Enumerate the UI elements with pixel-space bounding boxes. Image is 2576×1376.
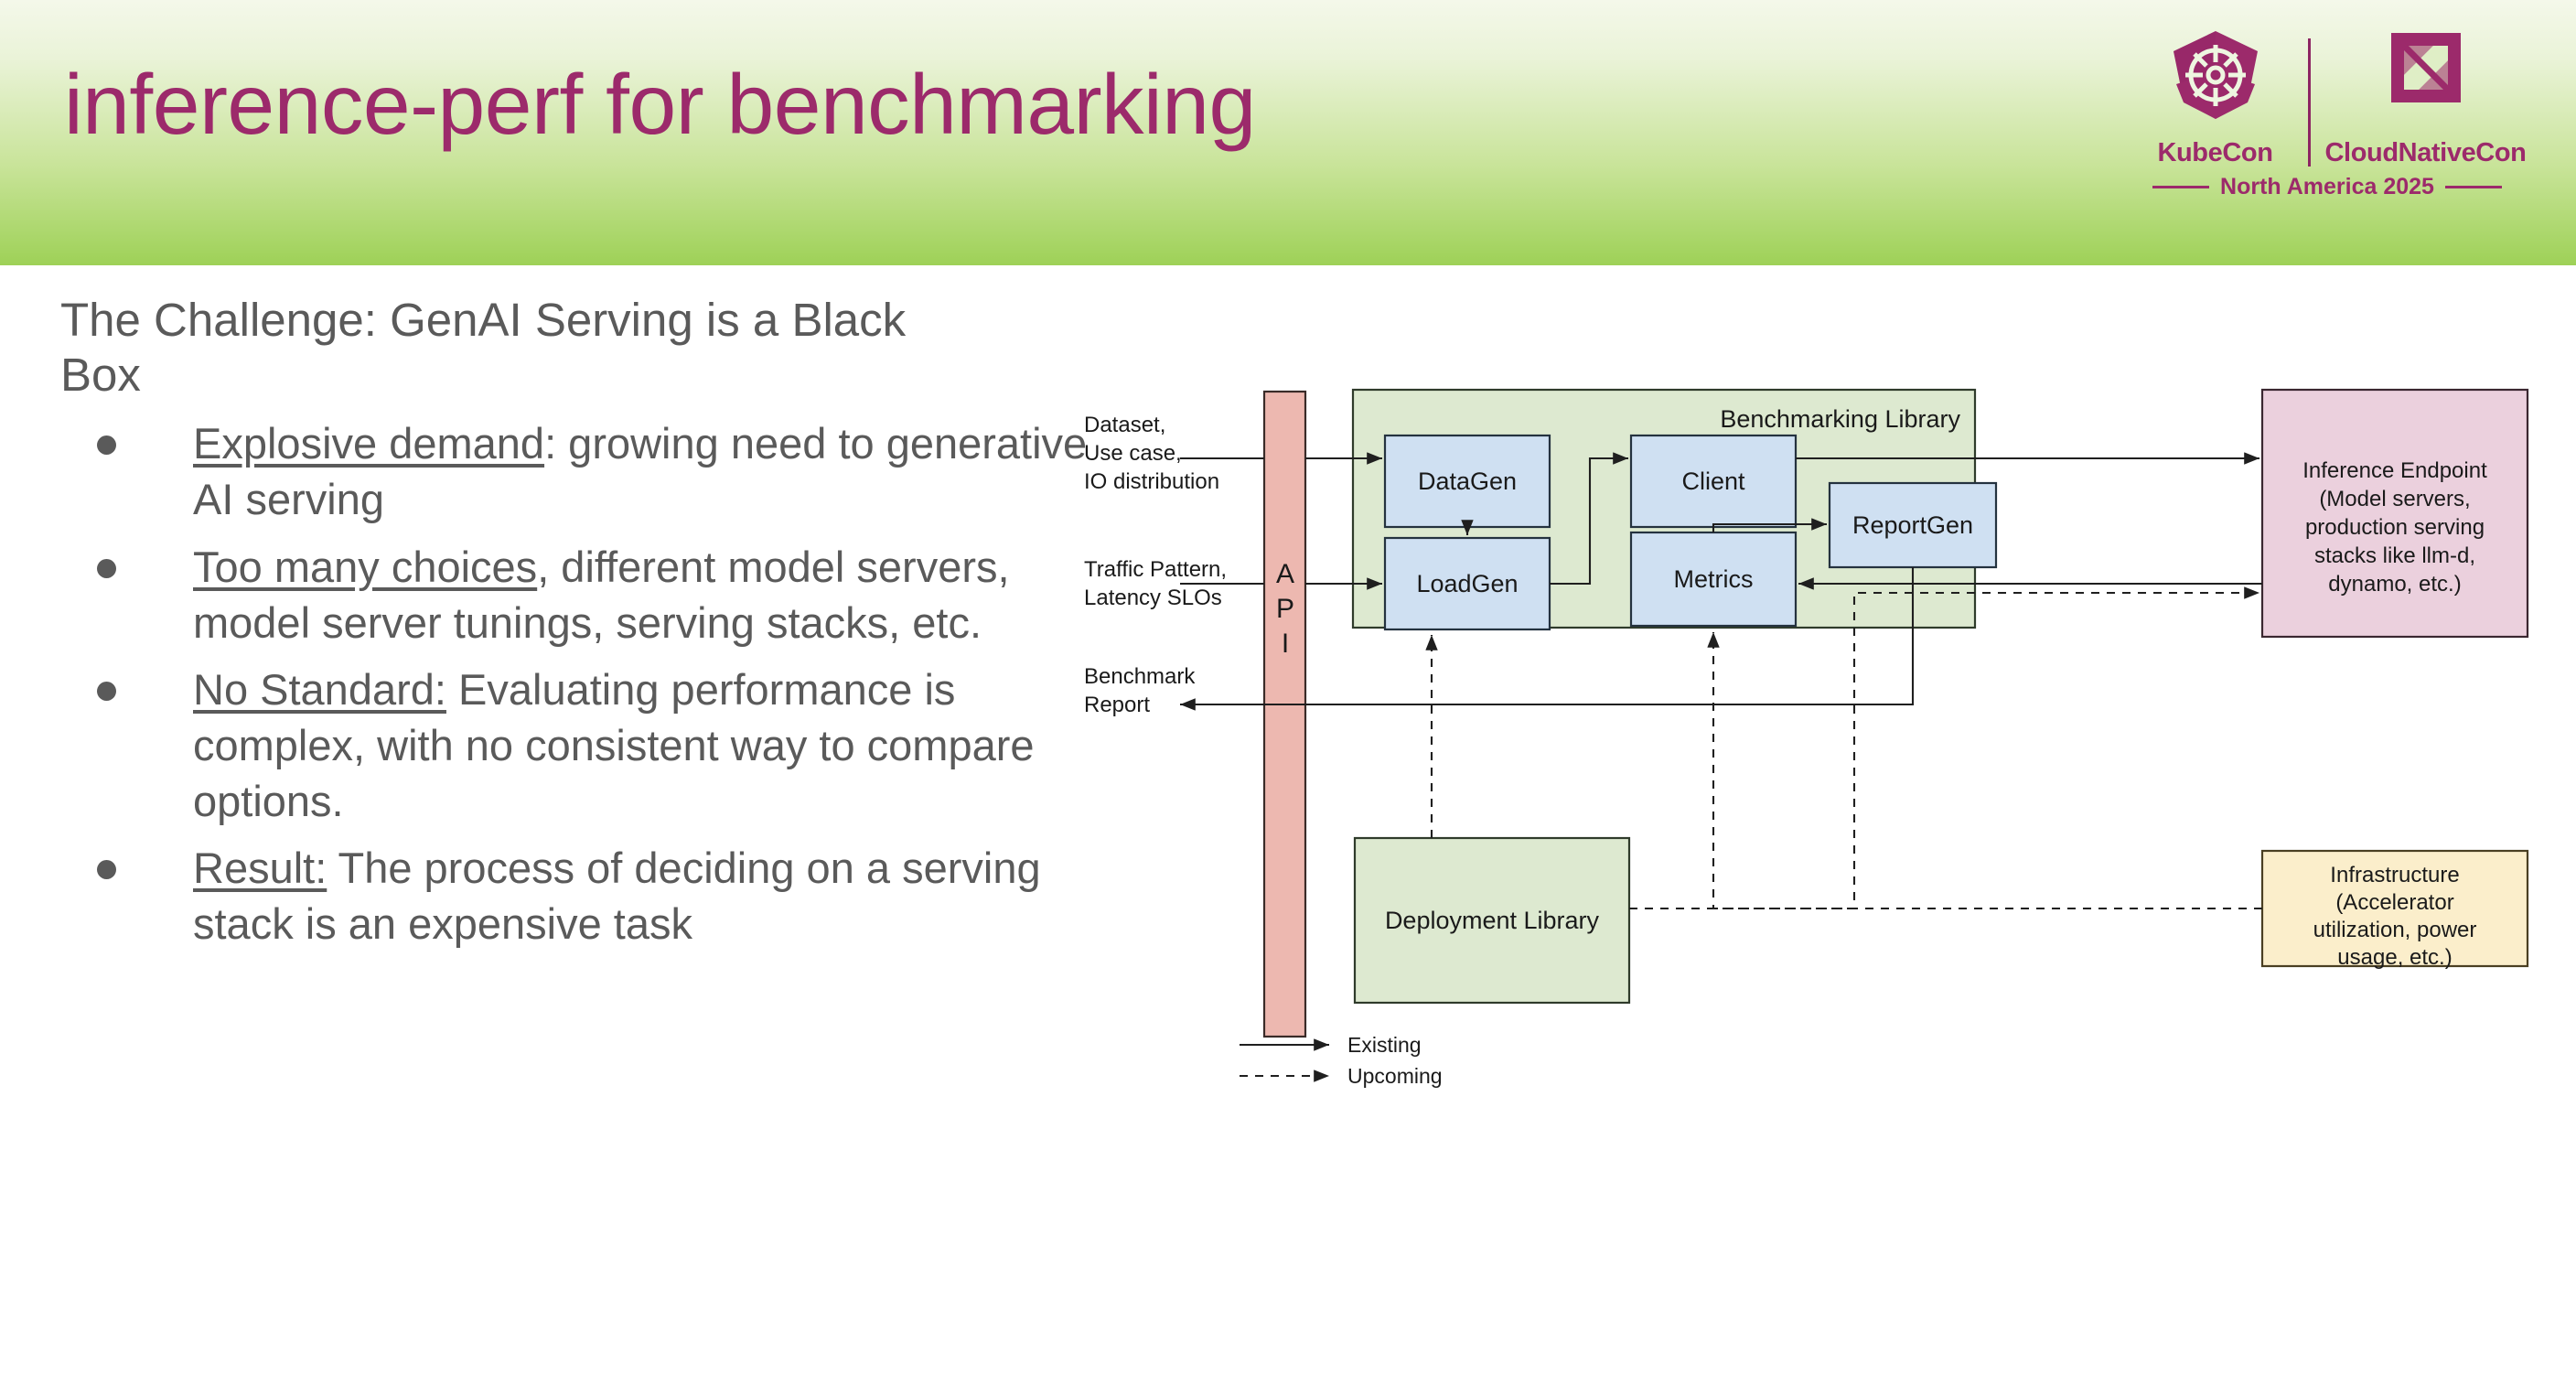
region-rule-left: [2152, 186, 2209, 188]
bullet-lead: Too many choices: [193, 543, 537, 591]
component-label-loadgen: LoadGen: [1416, 570, 1518, 597]
inference-endpoint-box: [2262, 390, 2528, 637]
slide-body-text: The Challenge: GenAI Serving is a Black …: [60, 293, 1094, 962]
input-label-report-2: Report: [1084, 693, 1150, 717]
infrastructure-line-3: utilization, power: [2313, 918, 2477, 942]
challenge-heading: The Challenge: GenAI Serving is a Black …: [60, 293, 993, 403]
component-label-client: Client: [1681, 468, 1745, 495]
cloud-native-computing-foundation-icon: [2377, 118, 2475, 134]
bullet-dot-icon: [97, 682, 116, 701]
infrastructure-line-4: usage, etc.): [2337, 945, 2452, 970]
region-rule-right: [2445, 186, 2502, 188]
legend-label-existing: Existing: [1347, 1033, 1422, 1057]
component-label-metrics: Metrics: [1674, 565, 1754, 593]
api-letter-a: A: [1276, 559, 1294, 589]
infrastructure-line-2: (Accelerator: [2335, 890, 2453, 915]
challenge-bullet-list: Explosive demand: growing need to genera…: [60, 415, 1094, 951]
bullet-lead: Explosive demand: [193, 419, 544, 468]
arrow-deployment-to-endpoint: [1629, 593, 2259, 908]
inference-endpoint-line-3: production serving: [2305, 515, 2485, 540]
kubernetes-helm-wheel-icon: [2165, 118, 2266, 134]
bullet-dot-icon: [97, 435, 116, 455]
bullet-dot-icon: [97, 860, 116, 879]
api-bar: [1264, 392, 1305, 1037]
architecture-diagram: Dataset, Use case, IO distribution Traff…: [1084, 366, 2548, 1116]
diagram-legend: Existing Upcoming: [1240, 1033, 1443, 1088]
inference-endpoint-line-5: dynamo, etc.): [2328, 572, 2461, 597]
kubecon-wordmark: KubeCon: [2135, 138, 2295, 168]
api-letter-p: P: [1276, 594, 1294, 624]
component-label-datagen: DataGen: [1418, 468, 1517, 495]
bullet-dot-icon: [97, 559, 116, 578]
input-label-report: Benchmark: [1084, 664, 1196, 689]
kubecon-logo-column: KubeCon: [2135, 27, 2295, 168]
inference-endpoint-line-1: Inference Endpoint: [2302, 458, 2487, 483]
legend-label-upcoming: Upcoming: [1347, 1064, 1443, 1088]
deployment-library-label: Deployment Library: [1385, 907, 1600, 934]
input-label-dataset-2: Use case,: [1084, 441, 1182, 466]
input-label-dataset-3: IO distribution: [1084, 469, 1219, 494]
list-item: Explosive demand: growing need to genera…: [60, 415, 1094, 527]
slide-header-band: inference-perf for benchmarking: [0, 0, 2576, 265]
bullet-lead: Result:: [193, 844, 327, 892]
benchmarking-library-title: Benchmarking Library: [1720, 405, 1960, 433]
input-label-traffic: Traffic Pattern,: [1084, 557, 1227, 582]
input-label-dataset: Dataset,: [1084, 413, 1165, 437]
logo-divider: [2308, 38, 2311, 167]
component-label-reportgen: ReportGen: [1852, 511, 1973, 539]
bullet-lead: No Standard:: [193, 665, 446, 714]
input-label-traffic-2: Latency SLOs: [1084, 586, 1222, 610]
list-item: Too many choices, different model server…: [60, 539, 1094, 650]
list-item: Result: The process of deciding on a ser…: [60, 840, 1094, 951]
arrow-infrastructure-to-metrics: [1713, 632, 2262, 908]
inference-endpoint-line-4: stacks like llm-d,: [2314, 543, 2475, 568]
region-label: North America 2025: [2220, 174, 2434, 200]
cloudnativecon-wordmark: CloudNativeCon: [2323, 138, 2528, 168]
cloudnativecon-logo-column: CloudNativeCon: [2323, 27, 2528, 168]
page-title: inference-perf for benchmarking: [64, 62, 1256, 147]
list-item: No Standard: Evaluating performance is c…: [60, 661, 1094, 829]
api-letter-i: I: [1282, 629, 1289, 659]
inference-endpoint-line-2: (Model servers,: [2319, 487, 2470, 511]
infrastructure-line-1: Infrastructure: [2330, 863, 2459, 887]
kubecon-cloudnativecon-logo: KubeCon CloudNativeCon North America 202…: [2126, 27, 2528, 215]
region-year-row: North America 2025: [2126, 174, 2528, 200]
